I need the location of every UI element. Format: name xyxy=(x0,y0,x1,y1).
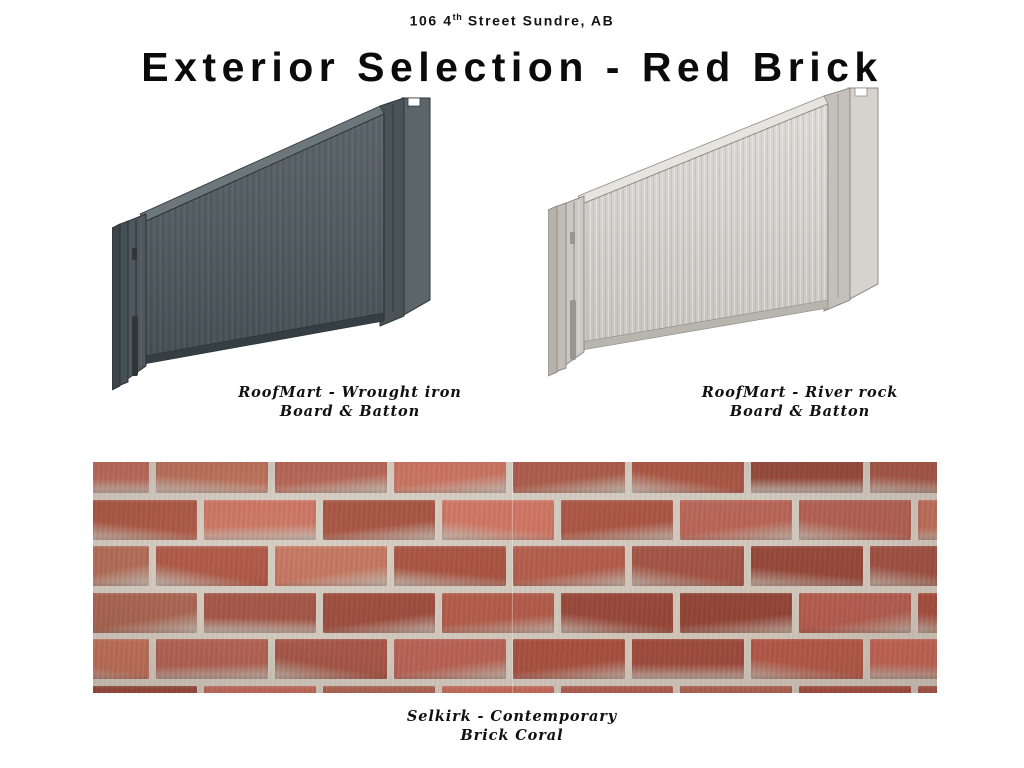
brick-course xyxy=(93,543,937,590)
exterior-selection-board: 106 4th Street Sundre, AB Exterior Selec… xyxy=(0,0,1024,768)
brick-wall-texture xyxy=(93,462,937,693)
brick-unit xyxy=(513,462,625,493)
brick-unit xyxy=(394,639,506,679)
brick-unit xyxy=(275,546,387,586)
brick-unit xyxy=(442,500,554,540)
brick-unit xyxy=(632,546,744,586)
siding-panel-light-illustration xyxy=(548,84,923,394)
brick-unit xyxy=(442,686,554,693)
brick-unit xyxy=(323,686,435,693)
sample-river-rock-siding xyxy=(548,84,923,394)
brick-unit xyxy=(751,462,863,493)
brick-course xyxy=(93,636,937,683)
brick-unit xyxy=(513,639,625,679)
caption-line-1: RoofMart - Wrought iron xyxy=(200,383,500,402)
brick-unit xyxy=(561,593,673,633)
sample-wrought-iron-siding xyxy=(112,94,472,394)
brick-unit xyxy=(394,462,506,493)
brick-unit xyxy=(93,639,149,679)
brick-unit xyxy=(870,462,937,493)
brick-unit xyxy=(442,593,554,633)
brick-unit xyxy=(918,593,937,633)
caption-brick-coral: Selkirk - Contemporary Brick Coral xyxy=(362,707,662,745)
brick-unit xyxy=(918,500,937,540)
caption-line-1: Selkirk - Contemporary xyxy=(362,707,662,726)
brick-unit xyxy=(751,639,863,679)
brick-tile-seam xyxy=(512,462,513,693)
address-ordinal-suffix: th xyxy=(453,12,463,22)
sample-brick-coral-image xyxy=(93,462,937,693)
brick-course xyxy=(93,590,937,637)
caption-line-2: Board & Batton xyxy=(640,402,960,421)
brick-unit xyxy=(680,593,792,633)
panel-body-light xyxy=(548,88,878,376)
caption-line-1: RoofMart - River rock xyxy=(640,383,960,402)
brick-unit xyxy=(394,546,506,586)
brick-unit xyxy=(93,546,149,586)
caption-line-2: Brick Coral xyxy=(362,726,662,745)
brick-unit xyxy=(561,500,673,540)
brick-unit xyxy=(680,500,792,540)
brick-unit xyxy=(323,593,435,633)
brick-unit xyxy=(204,500,316,540)
brick-unit xyxy=(93,500,197,540)
brick-unit xyxy=(799,500,911,540)
brick-unit xyxy=(513,546,625,586)
brick-unit xyxy=(323,500,435,540)
siding-panel-dark-illustration xyxy=(112,94,472,394)
brick-unit xyxy=(156,462,268,493)
address-suffix: Street Sundre, AB xyxy=(462,13,614,29)
brick-unit xyxy=(204,593,316,633)
brick-unit xyxy=(93,462,149,493)
project-address: 106 4th Street Sundre, AB xyxy=(0,12,1024,29)
brick-unit xyxy=(156,639,268,679)
brick-unit xyxy=(799,686,911,693)
brick-unit xyxy=(918,686,937,693)
caption-wrought-iron: RoofMart - Wrought iron Board & Batton xyxy=(200,383,500,421)
brick-unit xyxy=(204,686,316,693)
panel-body-dark xyxy=(112,98,430,390)
brick-unit xyxy=(870,639,937,679)
brick-course xyxy=(93,683,937,693)
caption-line-2: Board & Batton xyxy=(200,402,500,421)
brick-course xyxy=(93,462,937,497)
brick-unit xyxy=(632,639,744,679)
brick-unit xyxy=(632,462,744,493)
brick-unit xyxy=(156,546,268,586)
brick-unit xyxy=(680,686,792,693)
brick-unit xyxy=(275,639,387,679)
address-prefix: 106 4 xyxy=(410,13,453,29)
brick-unit xyxy=(751,546,863,586)
brick-unit xyxy=(93,593,197,633)
brick-unit xyxy=(799,593,911,633)
brick-course xyxy=(93,497,937,544)
brick-unit xyxy=(561,686,673,693)
brick-unit xyxy=(275,462,387,493)
brick-unit xyxy=(93,686,197,693)
brick-unit xyxy=(870,546,937,586)
caption-river-rock: RoofMart - River rock Board & Batton xyxy=(640,383,960,421)
